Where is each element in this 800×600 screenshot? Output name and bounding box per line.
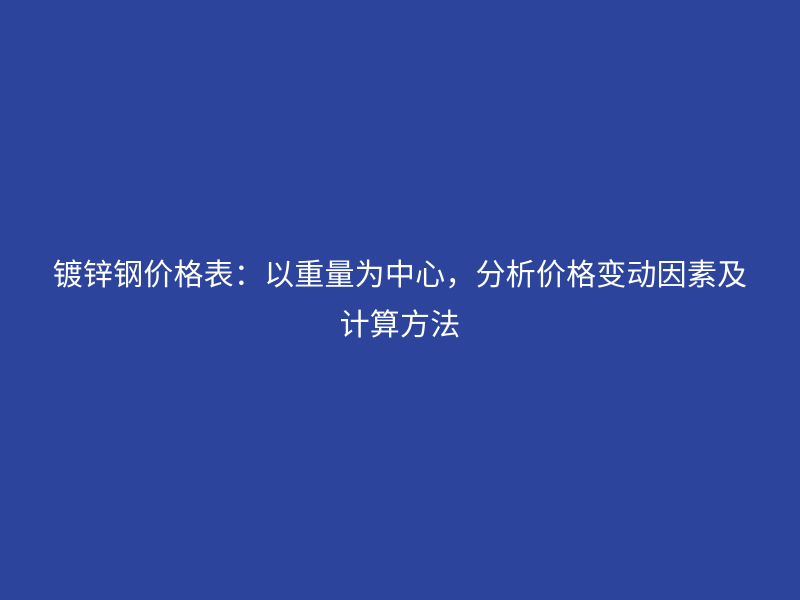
headline-block: 镀锌钢价格表：以重量为中心，分析价格变动因素及计算方法 (50, 251, 750, 351)
title-card: 镀锌钢价格表：以重量为中心，分析价格变动因素及计算方法 (0, 0, 800, 600)
page-title: 镀锌钢价格表：以重量为中心，分析价格变动因素及计算方法 (50, 251, 750, 351)
